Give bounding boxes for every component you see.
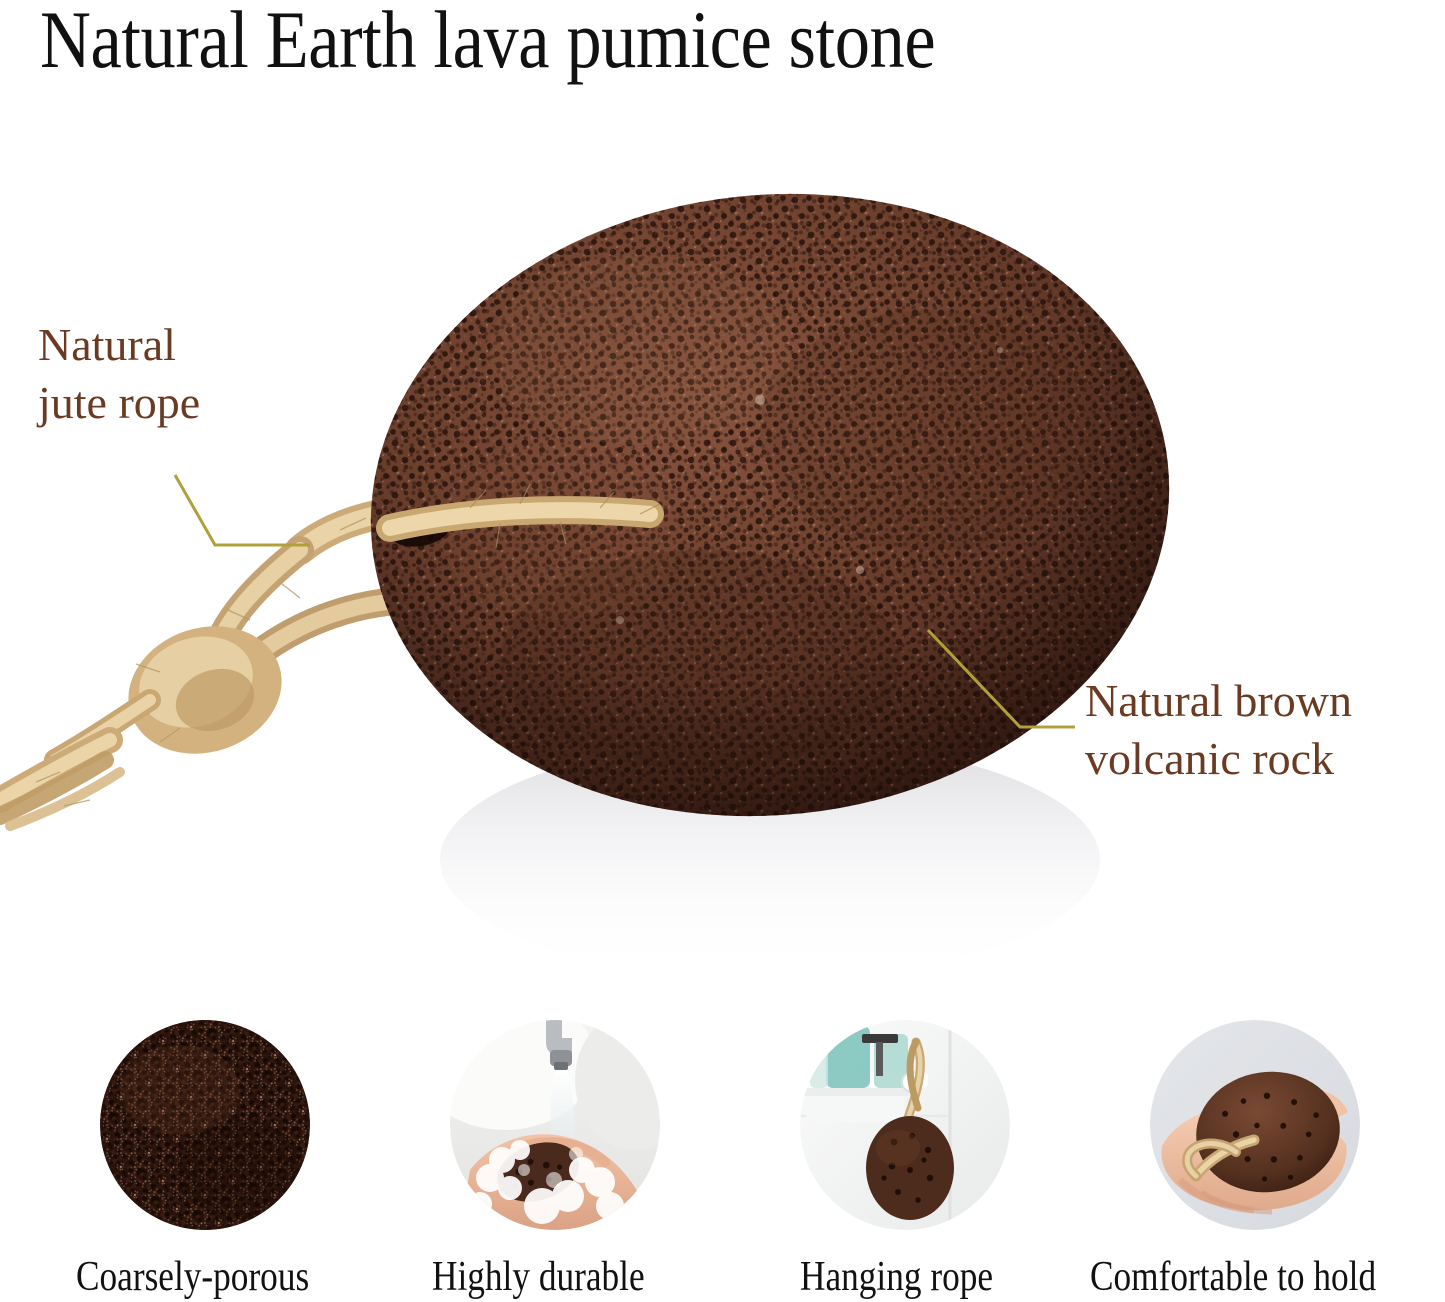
feature-thumb-comfortable-to-hold[interactable] (1150, 1020, 1360, 1230)
leader-line-icon-rope (175, 475, 310, 545)
callout-natural-jute-rope: Natural jute rope (38, 316, 368, 432)
feature-caption-highly-durable: Highly durable (432, 1252, 645, 1302)
hero-product-image (0, 100, 1445, 980)
rope-frayed-tail (0, 740, 120, 826)
feature-caption-comfortable-to-hold: Comfortable to hold (1090, 1252, 1376, 1302)
infographic-page: Natural Earth lava pumice stone (0, 0, 1445, 1302)
feature-thumb-highly-durable[interactable] (450, 1020, 660, 1230)
feature-thumbnail-row: Coarsely-porous (0, 1020, 1445, 1302)
callout-natural-brown-volcanic-rock: Natural brown volcanic rock (1085, 672, 1445, 788)
feature-caption-hanging-rope: Hanging rope (800, 1252, 993, 1302)
feature-thumb-hanging-rope[interactable] (800, 1020, 1010, 1230)
feature-caption-coarsely-porous: Coarsely-porous (76, 1252, 309, 1302)
feature-thumb-coarsely-porous[interactable] (100, 1020, 310, 1230)
page-title: Natural Earth lava pumice stone (40, 0, 1235, 86)
